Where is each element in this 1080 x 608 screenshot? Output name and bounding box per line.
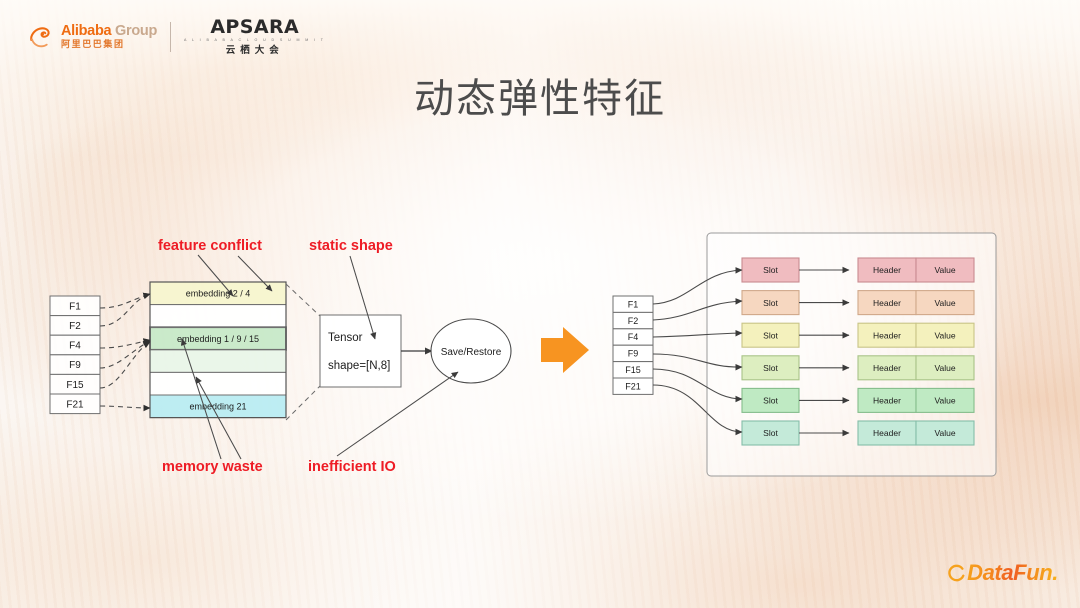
apsara-wordmark-cn: 云栖大会 xyxy=(226,46,284,56)
header-label-0: Header xyxy=(873,265,901,275)
save-restore-node: Save/Restore xyxy=(431,319,511,383)
alibaba-mascot-icon xyxy=(26,22,56,52)
embedding-to-tensor-leaders xyxy=(286,284,320,420)
embedding-row-label-0: embedding 2 / 4 xyxy=(186,289,251,299)
value-label-5: Value xyxy=(934,428,955,438)
left-feature-label-F4: F4 xyxy=(69,341,81,352)
left-feature-label-F9: F9 xyxy=(69,360,81,371)
page-title: 动态弹性特征 xyxy=(0,66,1080,124)
left-feature-label-F2: F2 xyxy=(69,321,81,332)
left-feature-label-F15: F15 xyxy=(66,380,84,391)
save-restore-label: Save/Restore xyxy=(441,347,502,358)
value-label-0: Value xyxy=(934,265,955,275)
slot-label-4: Slot xyxy=(763,396,778,406)
datafun-wordmark: DataFun. xyxy=(967,560,1058,586)
alibaba-wordmark-cn: 阿里巴巴集团 xyxy=(61,40,157,49)
header-label-3: Header xyxy=(873,363,901,373)
embedding-row-4 xyxy=(150,372,286,395)
right-feature-label-F9: F9 xyxy=(628,349,639,359)
embedding-row-label-2: embedding 1 / 9 / 15 xyxy=(177,334,259,344)
brand-logo-bar: Alibaba Group 阿里巴巴集团 APSARA A L I B A B … xyxy=(26,18,325,55)
embedding-row-label-5: embedding 21 xyxy=(189,402,246,412)
tensor-box-line2: shape=[N,8] xyxy=(328,360,390,372)
right-feature-label-F4: F4 xyxy=(628,332,639,342)
left-feature-to-embedding-connectors xyxy=(100,294,150,408)
embedding-row-1 xyxy=(150,305,286,328)
datafun-mark-icon xyxy=(948,564,966,582)
right-feature-label-F1: F1 xyxy=(628,299,639,309)
apsara-wordmark-en: APSARA xyxy=(210,18,299,37)
right-feature-label-F2: F2 xyxy=(628,316,639,326)
alibaba-wordmark-en: Alibaba Group xyxy=(61,24,157,39)
apsara-conference-logo: APSARA A L I B A B A C L O U D S U M M I… xyxy=(184,18,325,55)
value-label-4: Value xyxy=(934,396,955,406)
slot-label-5: Slot xyxy=(763,428,778,438)
left-embedding-table: embedding 2 / 4embedding 1 / 9 / 15embed… xyxy=(150,282,286,418)
header-label-2: Header xyxy=(873,330,901,340)
tensor-box-line1: Tensor xyxy=(328,332,363,344)
alibaba-group-logo: Alibaba Group 阿里巴巴集团 xyxy=(26,22,157,52)
slot-label-1: Slot xyxy=(763,298,778,308)
annotation-feature-conflict: feature conflict xyxy=(158,238,262,254)
header-label-4: Header xyxy=(873,396,901,406)
annotation-static-shape: static shape xyxy=(309,238,393,254)
value-label-1: Value xyxy=(934,298,955,308)
transition-arrow-icon xyxy=(541,327,589,373)
logo-divider xyxy=(170,22,171,52)
slot-label-0: Slot xyxy=(763,265,778,275)
tensor-box: Tensor shape=[N,8] xyxy=(320,315,401,387)
left-feature-label-F1: F1 xyxy=(69,301,81,312)
apsara-wordmark-sub: A L I B A B A C L O U D S U M M I T xyxy=(184,39,325,43)
header-label-5: Header xyxy=(873,428,901,438)
datafun-logo: DataFun. xyxy=(948,560,1058,586)
value-label-3: Value xyxy=(934,363,955,373)
slot-label-3: Slot xyxy=(763,363,778,373)
right-feature-label-F21: F21 xyxy=(625,381,641,391)
right-feature-label-F15: F15 xyxy=(625,365,641,375)
annotation-memory-waste: memory waste xyxy=(162,459,263,475)
left-feature-list: F1F2F4F9F15F21 xyxy=(50,296,100,414)
value-label-2: Value xyxy=(934,330,955,340)
annotation-inefficient-io: inefficient IO xyxy=(308,459,396,475)
embedding-row-3 xyxy=(150,350,286,373)
right-feature-list: F1F2F4F9F15F21 xyxy=(613,296,653,394)
alibaba-wordmark: Alibaba Group 阿里巴巴集团 xyxy=(61,24,157,50)
slot-label-2: Slot xyxy=(763,330,778,340)
left-feature-label-F21: F21 xyxy=(66,399,84,410)
header-label-1: Header xyxy=(873,298,901,308)
